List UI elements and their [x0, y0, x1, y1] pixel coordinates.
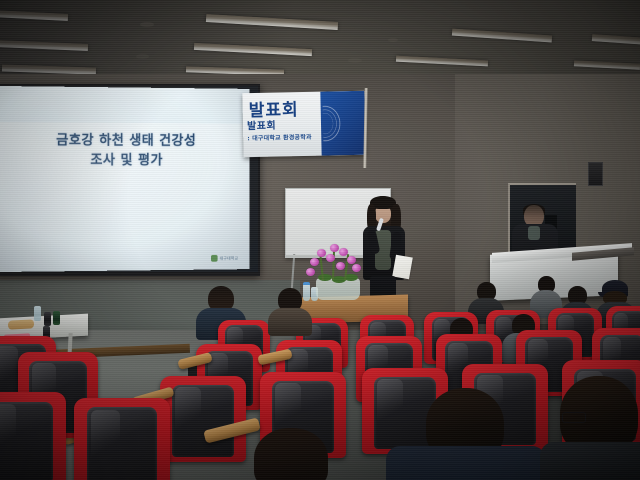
audience-member-foreground [398, 388, 528, 480]
bottle-cap [303, 282, 310, 285]
seat-highlight [175, 387, 201, 434]
eyeglasses-icon [562, 412, 586, 423]
audience-member-with-glasses [540, 376, 640, 480]
orchid-bloom [336, 262, 345, 270]
audience-shoulders [540, 442, 640, 480]
side-table-snack [8, 319, 34, 329]
orchid-bloom [310, 258, 319, 266]
seat-highlight [0, 404, 16, 457]
orchid-bloom [352, 264, 361, 272]
flower-leaves [318, 274, 332, 281]
banner-affiliation: : 대구대학교 환경공학과 [247, 132, 312, 142]
auditorium-seat[interactable] [74, 398, 170, 480]
lectern-man-shirt [528, 226, 540, 240]
event-banner: 발표회 발표회 : 대구대학교 환경공학과 [242, 91, 365, 158]
photo-scene: 금호강 하천 생태 건강성 조사 및 평가 대구대학교 발표회 발표회 : 대구… [0, 0, 640, 480]
audience-member [268, 288, 312, 334]
water-bottle [34, 306, 41, 321]
audience-shoulders [386, 446, 546, 480]
slide-logo-text: 대구대학교 [220, 255, 239, 261]
orchid-bloom [317, 249, 326, 257]
audience-head [254, 428, 328, 480]
orchid-bloom [347, 256, 356, 264]
orchid-bloom [326, 254, 335, 262]
slide-logo: 대구대학교 [211, 255, 238, 262]
presenter-papers [392, 255, 413, 280]
beverage-can [44, 312, 51, 326]
beverage-can [53, 311, 60, 325]
audience-member-foreground [232, 428, 352, 480]
orchid-bloom [306, 268, 315, 276]
orchid-bloom [330, 244, 339, 252]
wall-speaker [588, 162, 603, 186]
projection-screen: 금호강 하천 생태 건강성 조사 및 평가 대구대학교 [0, 86, 250, 272]
auditorium-seat[interactable] [0, 392, 66, 480]
slide-title: 금호강 하천 생태 건강성 조사 및 평가 [0, 130, 250, 170]
slide-logo-mark [211, 255, 218, 262]
audience-shoulders [268, 308, 312, 336]
seat-highlight [91, 410, 120, 461]
banner-subline: 발표회 [247, 117, 276, 133]
seat-highlight [275, 383, 301, 430]
seat-highlight [0, 346, 18, 389]
orchid-bloom [339, 248, 348, 256]
